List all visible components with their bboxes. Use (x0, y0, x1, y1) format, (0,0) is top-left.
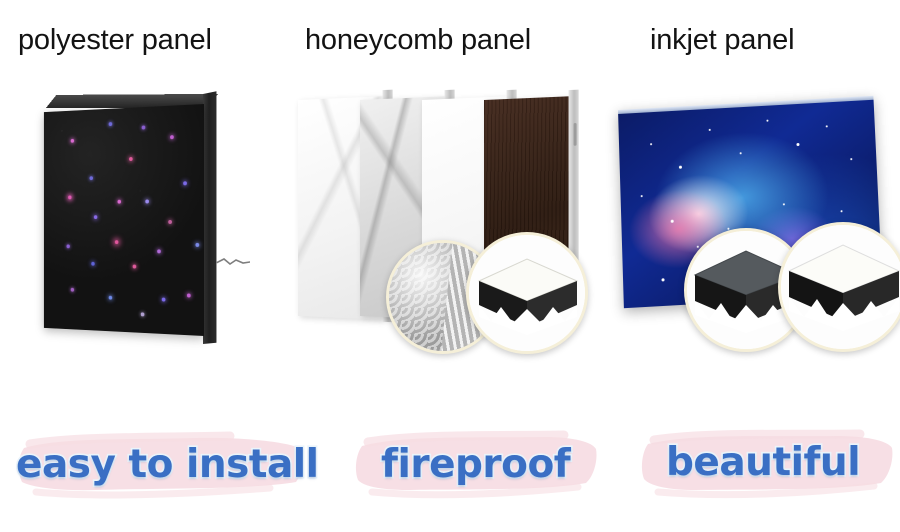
cross-section-diagram-icon (469, 235, 585, 351)
white-cross-section-icon (781, 225, 900, 349)
caption-text-fireproof: fireproof (381, 442, 570, 487)
column-title-honeycomb: honeycomb panel (305, 24, 531, 57)
white-surface-core-inset (778, 222, 900, 352)
product-comparison-canvas: polyester panel honeycomb panel inkjet p… (0, 0, 900, 532)
product-image-inkjet-galaxy-panel (618, 100, 890, 348)
column-title-polyester: polyester panel (18, 24, 212, 57)
star-panel-group (20, 88, 270, 348)
caption-beautiful: beautiful (636, 418, 898, 510)
star-panel-side-edge (203, 91, 216, 344)
product-image-polyester-star-panel (20, 88, 270, 348)
product-image-honeycomb-panels (298, 100, 566, 348)
caption-fireproof: fireproof (348, 418, 603, 510)
panel-cross-section-inset (466, 232, 588, 354)
power-cable-icon (216, 256, 250, 270)
star-panel-face (44, 104, 204, 336)
column-title-inkjet: inkjet panel (650, 24, 794, 57)
caption-easy-to-install: easy to install (0, 418, 320, 510)
caption-text-easy-to-install: easy to install (16, 442, 319, 487)
caption-text-beautiful: beautiful (666, 440, 860, 485)
